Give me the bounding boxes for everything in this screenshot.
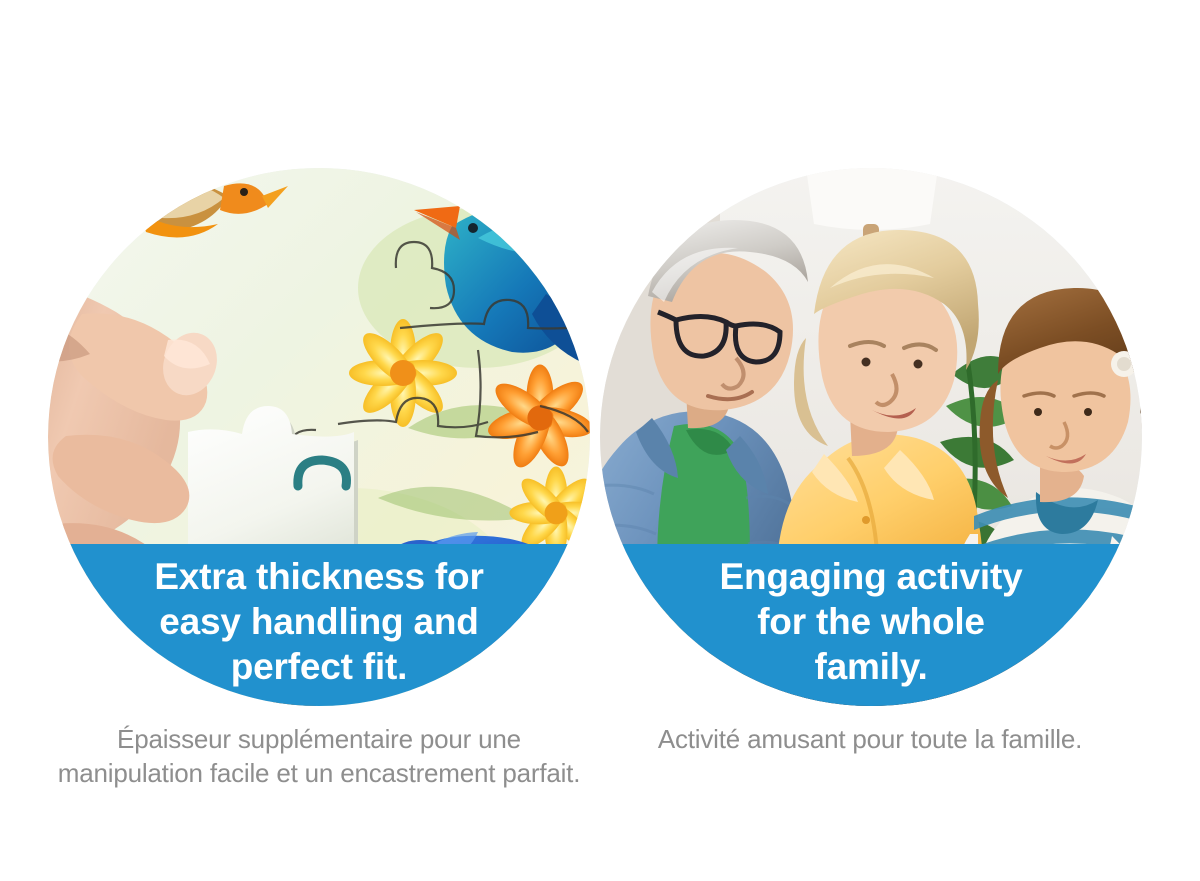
feature-headline-right: Engaging activity for the whole family. — [694, 554, 1049, 689]
feature-highlights-page: Extra thickness for easy handling and pe… — [0, 0, 1200, 881]
feature-caption-band-right: Engaging activity for the whole family. — [600, 544, 1142, 706]
feature-extra-thickness: Extra thickness for easy handling and pe… — [48, 168, 590, 790]
feature-subcaption-left: Épaisseur supplémentaire pour une manipu… — [48, 722, 590, 790]
feature-subcaption-right: Activité amusant pour toute la famille. — [570, 722, 1170, 756]
feature-circle-left: Extra thickness for easy handling and pe… — [48, 168, 590, 706]
feature-caption-band-left: Extra thickness for easy handling and pe… — [48, 544, 590, 706]
feature-circle-right: Engaging activity for the whole family. — [600, 168, 1142, 706]
feature-headline-left: Extra thickness for easy handling and pe… — [128, 554, 509, 689]
feature-engaging-activity: Engaging activity for the whole family. … — [600, 168, 1142, 756]
